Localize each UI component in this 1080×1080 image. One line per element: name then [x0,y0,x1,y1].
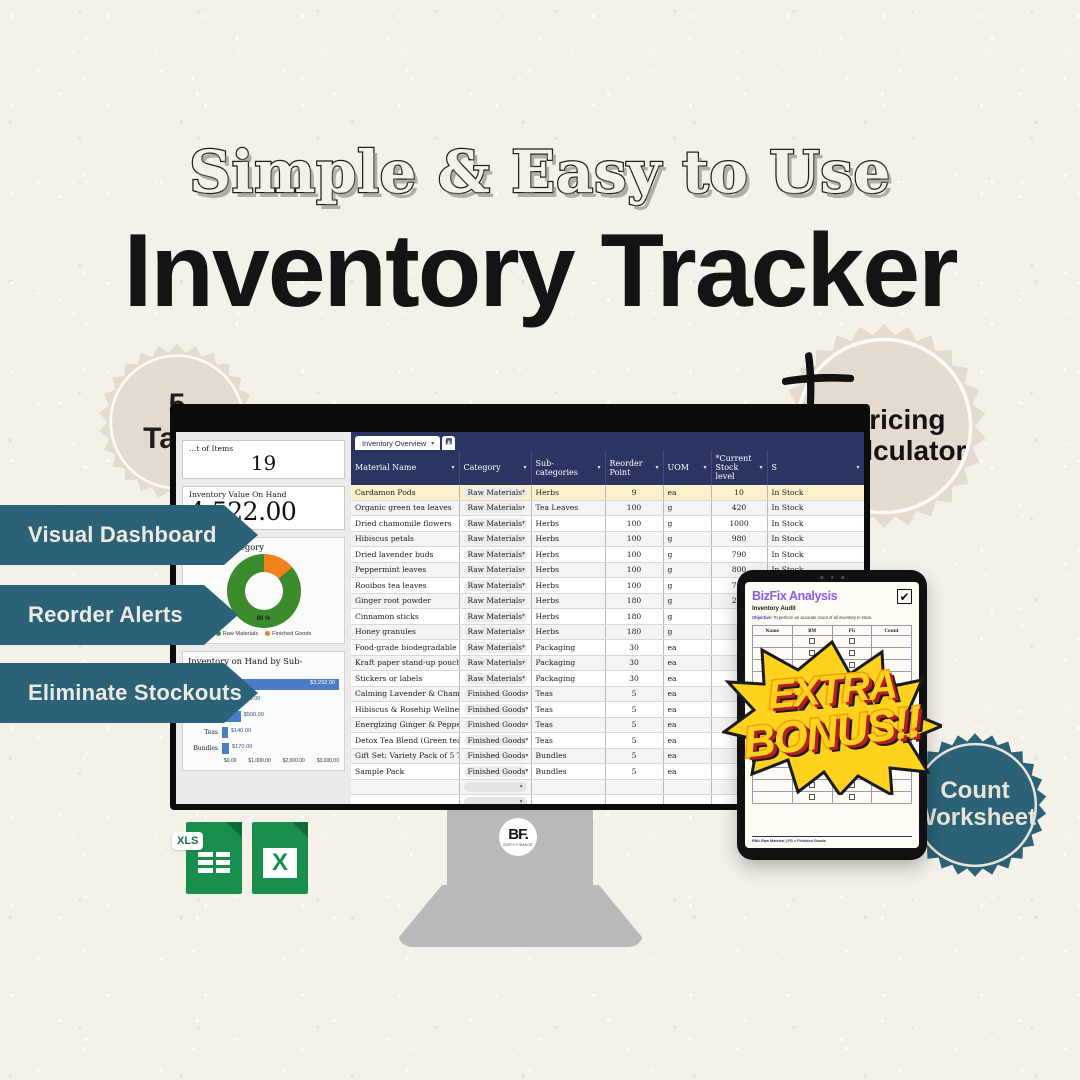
cell-status: In Stock [767,531,864,547]
chevron-down-icon[interactable]: ▾ [759,464,762,471]
cell-current-stock: 790 [711,547,767,563]
chevron-down-icon[interactable]: ▾ [522,505,525,511]
kpi-card-item-count: ...t of Items 19 [182,440,345,479]
column-header[interactable]: Reorder Point▾ [605,450,663,485]
cell-material-name: Sample Pack [351,764,459,780]
column-header-label: S [772,463,777,472]
objective-label: Objective: [752,615,772,620]
feature-ribbon-eliminate-stockouts: Eliminate Stockouts [0,663,258,723]
legend-item-finished-goods: Finished Goods [265,631,311,637]
ribbon-label: Reorder Alerts [28,602,183,628]
feature-ribbon-reorder-alerts: Reorder Alerts [0,585,238,645]
cell-material-name: Hibiscus petals [351,531,459,547]
objective-text: To perform an accurate count of all inve… [773,615,872,620]
cell-material-name: Food-grade biodegradable tea bag [351,640,459,656]
cell-current-stock: 980 [711,531,767,547]
cell-subcategory: Teas [531,686,605,702]
chevron-down-icon[interactable]: ▾ [522,675,525,681]
cell-category[interactable]: Finished Goods▾ [459,748,531,764]
tablet-camera [820,576,844,579]
bar-fill [222,727,228,738]
chevron-down-icon[interactable]: ▾ [522,567,525,573]
chevron-down-icon[interactable]: ▾ [525,722,528,728]
table-row[interactable]: Organic green tea leavesRaw Materials▾Te… [351,500,864,516]
bar-chart-axis: $0.00 $1,000.00 $2,000.00 $3,000.00 [188,758,339,764]
cell-reorder-point: 100 [605,578,663,594]
bar-value-label: $500.00 [244,712,264,718]
cell-subcategory: Herbs [531,609,605,625]
brand-logo-mark: BF. [508,827,528,842]
chevron-down-icon[interactable]: ▾ [451,464,454,471]
xls-tag-label: XLS [172,832,203,850]
column-header[interactable]: S▾ [767,450,864,485]
chart-legend: Raw Materials Finished Goods [216,631,312,637]
excel-x-glyph: X [263,848,297,878]
cell-subcategory: Tea Leaves [531,500,605,516]
feature-ribbon-visual-dashboard: Visual Dashboard [0,505,258,565]
chevron-down-icon[interactable]: ▾ [703,464,706,471]
chevron-down-icon[interactable]: ▾ [522,551,525,557]
chevron-down-icon[interactable]: ▾ [523,464,526,471]
cell-category[interactable]: Raw Materials▾ [459,531,531,547]
cell-current-stock: 10 [711,485,767,500]
cell-current-stock: 1000 [711,516,767,532]
cell-reorder-point: 5 [605,748,663,764]
cell-material-name: Stickers or labels [351,671,459,687]
bar-value-label: $170.00 [232,744,252,750]
cell-subcategory: Herbs [531,485,605,500]
worksheet-column-header: FG [832,626,872,636]
cell-category[interactable]: Finished Goods▾ [459,733,531,749]
bar-category-label: Teas [188,729,222,736]
column-header-label: Material Name [355,463,416,472]
cell-uom: g [663,500,711,516]
chevron-down-icon[interactable]: ▾ [522,660,525,666]
bar-fill [222,743,229,754]
cell-subcategory: Teas [531,733,605,749]
cell-material-name: Honey granules [351,624,459,640]
cell-subcategory: Packaging [531,655,605,671]
chevron-down-icon[interactable]: ▾ [522,613,525,619]
cell-reorder-point: 5 [605,764,663,780]
cell-reorder-point: 180 [605,593,663,609]
cell-status: In Stock [767,485,864,500]
cell-subcategory: Herbs [531,562,605,578]
cell-uom: ea [663,733,711,749]
worksheet-column-header: Name [753,626,793,636]
cell-reorder-point: 9 [605,485,663,500]
cell-category[interactable]: Raw Materials▾ [459,655,531,671]
cell-subcategory: Herbs [531,593,605,609]
cell-reorder-point: 5 [605,717,663,733]
cell-uom: g [663,624,711,640]
table-header: Material Name▾Category▾Sub-categories▾Re… [351,450,864,485]
chevron-down-icon[interactable]: ▾ [522,598,525,604]
cell-material-name: Organic green tea leaves [351,500,459,516]
cell-subcategory: Bundles [531,748,605,764]
cell-subcategory: Packaging [531,640,605,656]
ribbon-label: Visual Dashboard [28,522,217,548]
cell-subcategory: Herbs [531,516,605,532]
cell-material-name: Ginger root powder [351,593,459,609]
cell-current-stock: 420 [711,500,767,516]
bar-row: Bundles$170.00 [188,742,339,755]
cell-uom: ea [663,640,711,656]
column-header[interactable]: Sub-categories▾ [531,450,605,485]
legend-item-raw-materials: Raw Materials [216,631,258,637]
column-header-label: Category [464,463,501,472]
checkbox-checked-icon: ✔ [897,589,912,604]
column-header[interactable]: *Current Stock level▾ [711,450,767,485]
cell-reorder-point: 100 [605,500,663,516]
page-title: Inventory Tracker [0,212,1080,331]
chevron-down-icon[interactable]: ▾ [655,464,658,471]
cell-category[interactable]: Raw Materials▾ [459,640,531,656]
ribbon-label: Eliminate Stockouts [28,680,242,706]
cell-uom: ea [663,671,711,687]
worksheet-column-header: RM [792,626,832,636]
column-header-label: Sub-categories [536,459,595,477]
sheet-grid-icon [198,852,230,873]
cell-reorder-point: 100 [605,516,663,532]
cell-category[interactable]: Finished Goods▾ [459,764,531,780]
cell-material-name [351,795,459,805]
cell-subcategory: Bundles [531,764,605,780]
chevron-down-icon[interactable]: ▾ [525,768,528,774]
sheet-tab-inventory-overview[interactable]: Inventory Overview ▾ [355,436,440,450]
document-subtitle: Inventory Audit [752,606,912,612]
cell-reorder-point: 5 [605,686,663,702]
chevron-down-icon[interactable]: ▾ [525,753,528,759]
chevron-down-icon[interactable]: ▾ [522,536,525,542]
bar-category-label: Bundles [188,745,222,752]
cell-reorder-point: 30 [605,640,663,656]
bar-value-label: $140.00 [231,728,251,734]
eyebrow-text: Simple & Easy to Use [0,138,1080,206]
cell-category[interactable]: Raw Materials▾ [459,562,531,578]
cell-reorder-point: 30 [605,671,663,687]
worksheet-header-row: NameRMFGCount [753,626,912,636]
donut-chart: 86 % [227,554,301,628]
cell-subcategory [531,779,605,795]
cell-reorder-point: 180 [605,609,663,625]
badge-count-line1: Count [940,777,1009,804]
cell-category[interactable]: ▾ [459,795,531,805]
bar-row: Teas$140.00 [188,726,339,739]
column-header[interactable]: UOM▾ [663,450,711,485]
monitor-stand-base [398,885,643,947]
cell-material-name: Hibiscus & Rosehip Wellness Tea [351,702,459,718]
cell-uom [663,779,711,795]
cell-uom: ea [663,686,711,702]
chevron-down-icon[interactable]: ▾ [856,464,859,471]
cell-material-name: Rooibos tea leaves [351,578,459,594]
table-row[interactable]: Hibiscus petalsRaw Materials▾Herbs100g98… [351,531,864,547]
table-row[interactable]: Cardamon PodsRaw Materials▾Herbs9ea10In … [351,485,864,500]
cell-uom [663,795,711,805]
cell-reorder-point: 100 [605,562,663,578]
cell-material-name: Cardamon Pods [351,485,459,500]
chevron-down-icon[interactable]: ▾ [522,520,525,526]
cell-subcategory: Teas [531,717,605,733]
cell-material-name: Calming Lavender & Chamomile [351,686,459,702]
chevron-down-icon[interactable]: ▾ [597,464,600,471]
cell-uom: g [663,531,711,547]
sheet-tab-bar: Inventory Overview ▾ 🖪 [351,432,864,450]
cell-subcategory: Herbs [531,624,605,640]
cell-uom: ea [663,717,711,733]
chevron-down-icon[interactable]: ▾ [525,737,528,743]
table-row[interactable]: Dried chamomile flowersRaw Materials▾Her… [351,516,864,532]
cell-material-name: Energizing Ginger & Peppermint [351,717,459,733]
cell-category[interactable]: Raw Materials▾ [459,624,531,640]
cell-category[interactable]: Raw Materials▾ [459,500,531,516]
kpi-value: 19 [189,453,338,474]
extra-bonus-burst: EXTRA BONUS!! [722,640,942,795]
cell-category[interactable]: Raw Materials▾ [459,609,531,625]
cell-reorder-point: 100 [605,547,663,563]
cell-category[interactable]: Raw Materials▾ [459,547,531,563]
cell-category[interactable]: ▾ [459,779,531,795]
column-header-label: Reorder Point [610,459,653,477]
cell-uom: ea [663,748,711,764]
excel-file-icon: X [252,822,308,894]
brand-logo-sub: BIZFIX FINANCE [503,843,532,847]
chevron-down-icon[interactable]: ▾ [525,691,528,697]
bar-value-label: $3,292.00 [310,680,335,686]
cell-material-name: Dried chamomile flowers [351,516,459,532]
cell-material-name: Detox Tea Blend (Green tea with [351,733,459,749]
cell-material-name: Kraft paper stand-up pouches [351,655,459,671]
column-header-label: *Current Stock level [716,454,757,481]
cell-category[interactable]: Raw Materials▾ [459,578,531,594]
document-objective: Objective: To perform an accurate count … [752,615,912,620]
cell-category[interactable]: Finished Goods▾ [459,717,531,733]
brand-logo: BF. BIZFIX FINANCE [499,818,537,856]
cell-uom: g [663,516,711,532]
worksheet-column-header: Count [872,626,912,636]
badge-count-line2: Worksheet [914,804,1036,831]
cell-material-name: Gift Set: Variety Pack of 5 Tea Bl [351,748,459,764]
cell-uom: g [663,609,711,625]
chevron-down-icon[interactable]: ▾ [525,706,528,712]
document-title: BizFix Analysis [752,589,912,603]
cell-uom: ea [663,764,711,780]
cell-category[interactable]: Raw Materials▾ [459,485,531,500]
donut-percent-label: 86 % [227,616,301,622]
cell-material-name: Cinnamon sticks [351,609,459,625]
cell-category[interactable]: Finished Goods▾ [459,686,531,702]
chevron-down-icon[interactable]: ▾ [522,629,525,635]
column-header[interactable]: Category▾ [459,450,531,485]
cell-status: In Stock [767,516,864,532]
cell-reorder-point: 180 [605,624,663,640]
cell-category[interactable]: Finished Goods▾ [459,702,531,718]
chevron-down-icon[interactable]: ▾ [520,799,523,804]
cell-subcategory: Herbs [531,531,605,547]
cell-status: In Stock [767,547,864,563]
cell-uom: ea [663,485,711,500]
chevron-down-icon[interactable]: ▾ [520,784,523,790]
column-header-label: UOM [668,463,690,472]
chevron-down-icon[interactable]: ▾ [431,440,434,447]
document-footer-legend: RM= Raw Material | FG = Finished Goods [752,836,912,843]
chevron-down-icon[interactable]: ▾ [522,489,525,495]
cell-reorder-point: 5 [605,702,663,718]
cell-reorder-point: 5 [605,733,663,749]
cell-material-name: Dried lavender buds [351,547,459,563]
cell-uom: ea [663,655,711,671]
cell-uom: g [663,578,711,594]
cell-uom: g [663,593,711,609]
save-icon[interactable]: 🖪 [442,436,455,450]
google-sheets-file-icon: XLS [186,822,242,894]
cell-subcategory: Teas [531,702,605,718]
cell-subcategory: Herbs [531,578,605,594]
cell-subcategory: Herbs [531,547,605,563]
cell-subcategory: Packaging [531,671,605,687]
cell-uom: g [663,562,711,578]
cell-material-name: Peppermint leaves [351,562,459,578]
table-row[interactable]: Dried lavender budsRaw Materials▾Herbs10… [351,547,864,563]
cell-category[interactable]: Raw Materials▾ [459,671,531,687]
cell-subcategory [531,795,605,805]
cell-uom: g [663,547,711,563]
cell-category[interactable]: Raw Materials▾ [459,516,531,532]
cell-reorder-point [605,795,663,805]
chevron-down-icon[interactable]: ▾ [522,644,525,650]
cell-category[interactable]: Raw Materials▾ [459,593,531,609]
cell-uom: ea [663,702,711,718]
cell-material-name [351,779,459,795]
chevron-down-icon[interactable]: ▾ [522,582,525,588]
sheet-tab-label: Inventory Overview [362,439,426,448]
column-header[interactable]: Material Name▾ [351,450,459,485]
cell-reorder-point: 30 [605,655,663,671]
cell-reorder-point [605,779,663,795]
cell-reorder-point: 100 [605,531,663,547]
cell-status: In Stock [767,500,864,516]
